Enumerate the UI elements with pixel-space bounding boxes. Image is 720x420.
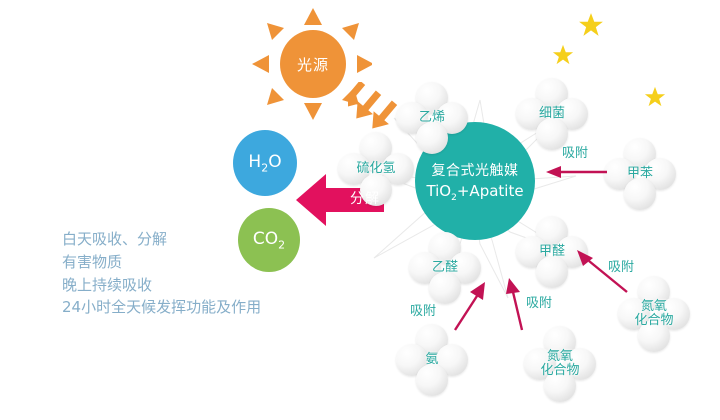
core-label-en: TiO2+Apatite bbox=[426, 182, 523, 203]
photocatalyst-diagram: 光源 bbox=[0, 0, 720, 420]
molecule-toluene: 甲苯 bbox=[604, 138, 676, 210]
star-icon bbox=[644, 86, 666, 108]
adsorb-label-bottom-right: 吸附 bbox=[526, 292, 552, 311]
output-circle-h2o: H2O bbox=[233, 130, 297, 196]
star-icon bbox=[552, 44, 574, 66]
description-line-1: 白天吸收、分解 bbox=[62, 228, 362, 251]
description-text: 白天吸收、分解 有害物质 晚上持续吸收 24小时全天候发挥功能及作用 bbox=[62, 228, 362, 319]
star-icon bbox=[578, 12, 604, 38]
adsorb-arrow-right-icon bbox=[546, 164, 608, 180]
core-formula-suffix: +Apatite bbox=[457, 182, 524, 200]
h2o-main: H bbox=[248, 152, 261, 172]
description-line-3: 晚上持续吸收 bbox=[62, 274, 362, 297]
molecule-nitrogen-oxides-bottom: 氮氧 化合物 bbox=[524, 326, 596, 402]
core-formula-prefix: TiO bbox=[426, 182, 451, 200]
adsorb-label-bottom-left: 吸附 bbox=[410, 300, 436, 319]
crescent-moon-icon bbox=[596, 22, 652, 86]
h2o-label: H2O bbox=[248, 152, 281, 174]
molecule-bacteria: 细菌 bbox=[516, 78, 588, 150]
description-line-4: 24小时全天候发挥功能及作用 bbox=[62, 296, 362, 319]
molecule-ammonia: 氨 bbox=[396, 324, 468, 396]
adsorb-label-right-lower: 吸附 bbox=[608, 256, 634, 275]
description-line-2: 有害物质 bbox=[62, 251, 362, 274]
adsorb-label-right-top: 吸附 bbox=[562, 142, 588, 161]
core-label-cn: 复合式光触媒 bbox=[432, 160, 519, 180]
h2o-suffix: O bbox=[268, 152, 281, 172]
sun-label: 光源 bbox=[297, 54, 329, 75]
adsorb-arrow-bottom-left-icon bbox=[447, 282, 489, 332]
decompose-label: 分解 bbox=[350, 188, 380, 208]
sun-core: 光源 bbox=[280, 30, 346, 98]
